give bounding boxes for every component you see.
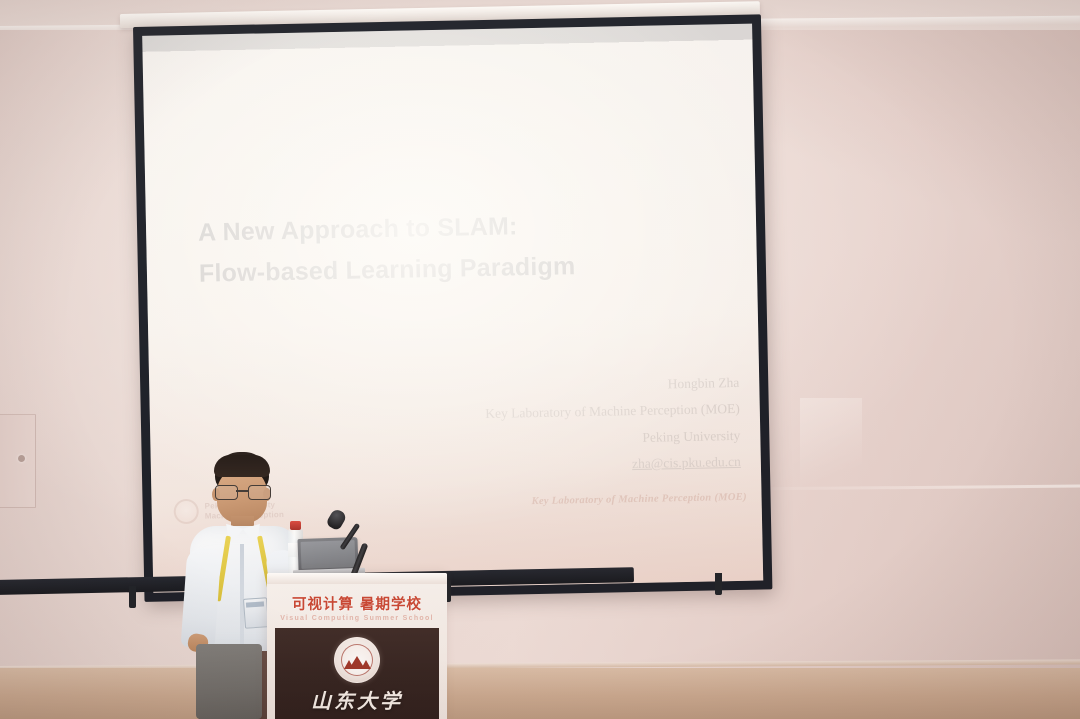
podium-banner: 可视计算 暑期学校 Visual Computing Summer School	[277, 587, 437, 627]
crest-inner	[341, 644, 373, 676]
laptop-icon	[297, 537, 358, 571]
glasses-lens	[215, 485, 238, 500]
shandong-university-crest-icon	[334, 637, 380, 683]
podium: 可视计算 暑期学校 Visual Computing Summer School…	[267, 573, 447, 719]
bottle-cap	[290, 521, 301, 530]
slide-title: A New Approach to SLAM: Flow-based Learn…	[198, 203, 670, 293]
hair-front	[214, 455, 270, 477]
wall-shadow	[760, 30, 1080, 240]
glasses-lens	[248, 485, 271, 500]
crest-mountain-icon	[349, 656, 365, 669]
podium-top-surface	[267, 573, 447, 584]
wall-corner-highlight	[800, 398, 862, 506]
glasses-bridge	[236, 490, 248, 492]
screen-bracket	[715, 573, 722, 595]
slide-author-block: Hongbin Zha Key Laboratory of Machine Pe…	[329, 370, 741, 483]
podium-banner-cn: 可视计算 暑期学校	[292, 593, 422, 614]
slide-title-line1: A New Approach to SLAM:	[198, 212, 518, 246]
podium-banner-en: Visual Computing Summer School	[280, 615, 434, 622]
author-email-link[interactable]: zha@cis.pku.edu.cn	[632, 449, 741, 477]
screen-bracket	[129, 586, 136, 608]
glasses-icon	[213, 485, 271, 498]
panel-latch-icon	[18, 455, 25, 462]
shirt-placket	[240, 544, 244, 644]
trousers	[196, 644, 262, 719]
wall-access-panel	[0, 414, 36, 508]
floor	[0, 668, 1080, 719]
lecture-hall-photo: A New Approach to SLAM: Flow-based Learn…	[0, 0, 1080, 719]
slide-footer: Key Laboratory of Machine Perception (MO…	[531, 492, 746, 507]
podium-university-name: 山东大学	[267, 685, 447, 714]
slide-title-line2: Flow-based Learning Paradigm	[199, 244, 670, 294]
